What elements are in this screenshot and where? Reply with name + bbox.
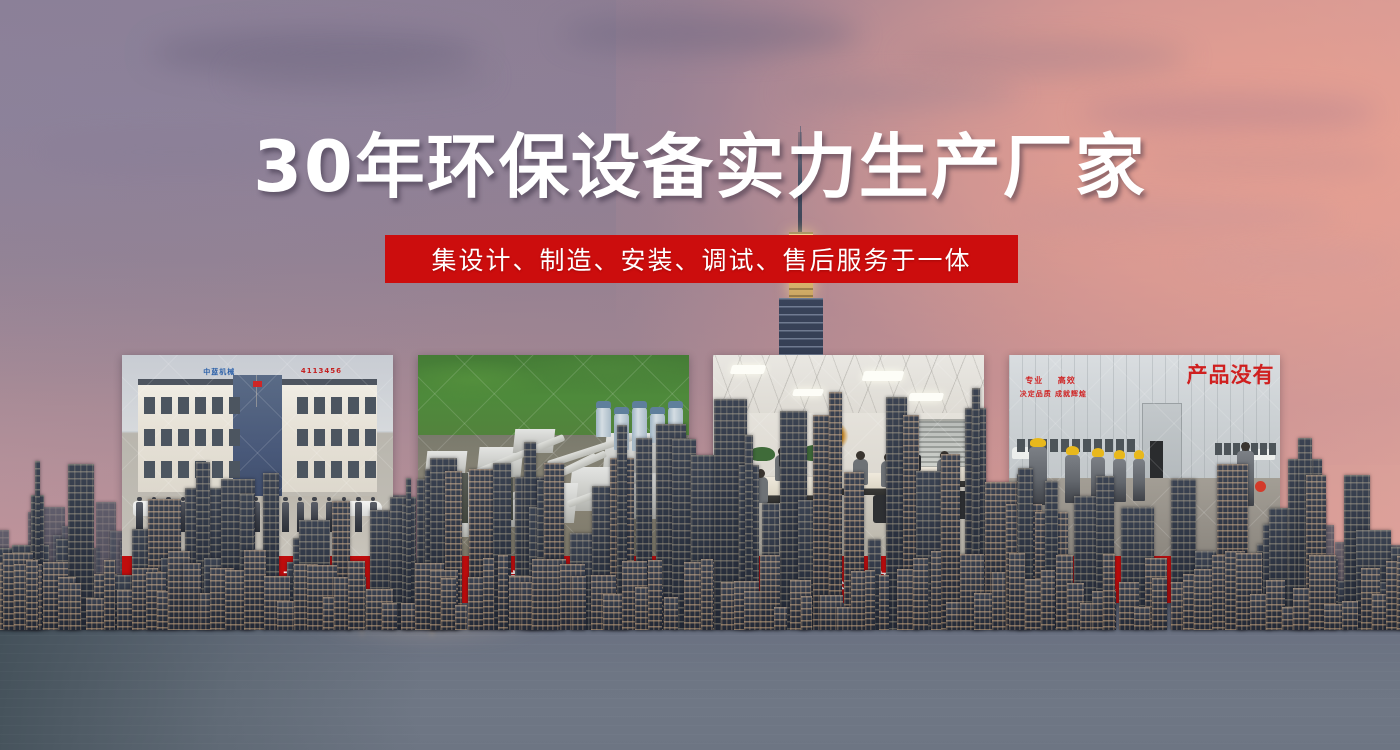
safety-helmet <box>1092 448 1104 457</box>
building <box>879 575 889 630</box>
ceiling-light <box>908 393 944 401</box>
staff-member <box>136 502 143 532</box>
building-window <box>331 397 342 414</box>
factory-window <box>1050 439 1058 452</box>
subtitle-text: 集设计、制造、安装、调试、售后服务于一体 <box>431 241 971 277</box>
building <box>498 555 508 630</box>
building-window <box>195 397 206 414</box>
factory-window <box>1260 443 1267 455</box>
building-window <box>348 397 359 414</box>
factory-wall-small-slogan: 高效 <box>1058 375 1076 386</box>
building <box>1342 601 1358 630</box>
safety-helmet <box>1066 446 1079 455</box>
building-window <box>212 461 223 478</box>
building <box>348 561 365 630</box>
building-window <box>365 429 376 446</box>
building-window <box>161 429 172 446</box>
building <box>244 550 265 630</box>
building-phone-number: 4113456 <box>301 367 342 375</box>
factory-window <box>1105 439 1113 452</box>
factory-worker <box>1133 459 1145 501</box>
building-window <box>331 461 342 478</box>
building <box>572 576 586 630</box>
silo-cap <box>668 401 683 408</box>
cloud <box>900 40 1190 74</box>
staff-head <box>137 497 142 502</box>
staff-member <box>282 502 289 532</box>
building-window <box>229 429 240 446</box>
building-window <box>314 397 325 414</box>
red-helmet-held <box>1255 481 1266 492</box>
building <box>931 551 941 630</box>
factory-wall-small-slogan: 决定品质 <box>1020 389 1052 399</box>
building <box>774 607 788 630</box>
cloud <box>560 14 860 54</box>
staff-member <box>355 502 362 532</box>
building-window <box>212 397 223 414</box>
factory-window <box>1083 439 1091 452</box>
building-window <box>348 461 359 478</box>
building <box>1080 603 1093 630</box>
factory-window <box>1127 439 1135 452</box>
staff-head <box>356 497 361 502</box>
building <box>455 605 467 630</box>
building <box>992 572 1006 630</box>
page-title: 30年环保设备实力生产厂家 <box>0 132 1400 202</box>
building <box>277 601 294 630</box>
building-window <box>229 461 240 478</box>
building <box>468 577 483 630</box>
ceiling-light <box>730 365 767 374</box>
silo-cap <box>632 401 647 408</box>
building <box>1134 607 1150 630</box>
ceiling-light <box>792 389 824 396</box>
building-window <box>161 397 172 414</box>
safety-helmet <box>1114 450 1125 459</box>
building <box>1152 578 1166 630</box>
building-window <box>314 429 325 446</box>
building-window <box>297 429 308 446</box>
building-window <box>178 397 189 414</box>
building <box>1041 570 1055 630</box>
building-window <box>144 461 155 478</box>
factory-wall-slogan: 产品没有 <box>1187 359 1275 389</box>
building-window <box>297 397 308 414</box>
building-window <box>161 461 172 478</box>
building <box>701 559 712 630</box>
building-window <box>178 461 189 478</box>
building-window <box>365 461 376 478</box>
building-window <box>331 429 342 446</box>
building <box>801 596 811 630</box>
cloud <box>780 80 1020 106</box>
factory-window <box>1215 443 1222 455</box>
building <box>664 597 677 630</box>
building-window <box>348 429 359 446</box>
building-window <box>297 461 308 478</box>
building-signage: 中蓝机械 <box>203 367 235 377</box>
plant-stack <box>462 473 468 523</box>
building <box>1372 594 1387 630</box>
cloud <box>230 62 490 92</box>
factory-worker <box>1113 459 1126 502</box>
building <box>104 560 115 630</box>
flag <box>253 381 262 387</box>
flag-pole <box>256 375 257 407</box>
building <box>913 558 929 630</box>
building <box>521 582 532 630</box>
factory-window <box>1017 439 1025 452</box>
building-window <box>144 397 155 414</box>
building-window <box>195 429 206 446</box>
building-window <box>365 397 376 414</box>
potted-plant <box>749 447 775 461</box>
building <box>441 578 456 630</box>
building <box>70 583 82 630</box>
farmland-background <box>418 355 689 439</box>
factory-window <box>1269 443 1276 455</box>
staff-head <box>283 497 288 502</box>
silo-cap <box>614 407 629 414</box>
silo-cap <box>596 401 611 408</box>
building-window <box>314 461 325 478</box>
factory-doorway <box>1150 441 1164 479</box>
building-window <box>144 429 155 446</box>
building-window <box>212 429 223 446</box>
building <box>483 558 494 630</box>
silo-cap <box>650 407 665 414</box>
safety-helmet <box>1030 438 1046 447</box>
building <box>26 560 38 630</box>
building <box>648 560 663 630</box>
safety-helmet <box>1134 450 1144 459</box>
storage-silo <box>596 407 611 437</box>
building-window <box>229 397 240 414</box>
subtitle-banner: 集设计、制造、安装、调试、售后服务于一体 <box>385 235 1018 283</box>
factory-window <box>1224 443 1231 455</box>
building <box>382 603 397 630</box>
factory-wall-small-slogan: 成就辉煌 <box>1055 389 1087 399</box>
worker-head <box>1241 442 1250 451</box>
building <box>183 563 201 630</box>
building <box>1009 553 1025 630</box>
building <box>865 570 875 630</box>
ceiling-light <box>862 371 905 381</box>
building-window <box>178 429 189 446</box>
factory-wall-small-slogan: 专业 <box>1025 375 1043 386</box>
banner-stage: 30年环保设备实力生产厂家 集设计、制造、安装、调试、售后服务于一体 中蓝机械 … <box>0 0 1400 750</box>
building <box>1103 554 1116 630</box>
